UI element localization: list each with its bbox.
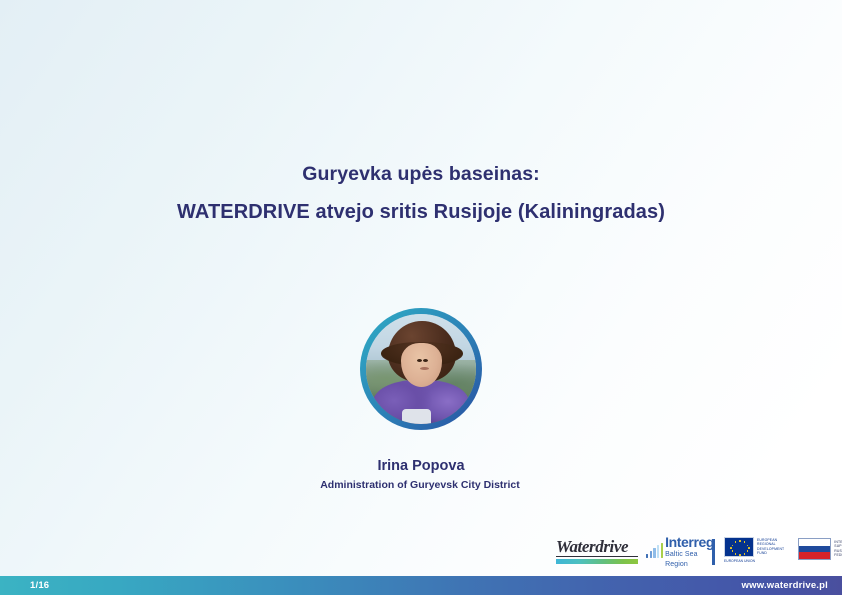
- speaker-name: Irina Popova: [0, 456, 842, 476]
- page-indicator: 1/16: [30, 580, 49, 591]
- eu-flag-wrap: EUROPEAN UNION: [724, 537, 754, 563]
- interreg-name: Interreg: [665, 535, 714, 549]
- eu-caption-line-4: FUND: [757, 551, 784, 555]
- waterdrive-gradient-bar: [556, 559, 638, 564]
- russia-logo: INTERNATIONAL SUPPORT OF THE RUSSIAN FED…: [798, 537, 842, 567]
- waterdrive-wordmark: Waterdrive: [556, 537, 638, 556]
- speaker-portrait-ring: [360, 308, 482, 430]
- interreg-logo: Interreg Baltic Sea Region: [646, 537, 712, 567]
- interreg-subtitle: Baltic Sea Region: [665, 550, 714, 570]
- portrait-mouth: [420, 367, 429, 370]
- logo-bar: Waterdrive Interreg Baltic Sea Region: [556, 533, 842, 567]
- portrait-eye-right: [423, 359, 428, 362]
- russia-caption-line-4: FEDERATION: [834, 553, 842, 557]
- waterdrive-logo: Waterdrive: [556, 537, 638, 567]
- interreg-divider: [712, 539, 715, 565]
- presentation-slide: Guryevka upės baseinas: WATERDRIVE atvej…: [0, 0, 842, 595]
- interreg-text: Interreg Baltic Sea Region: [665, 535, 714, 570]
- portrait-eye-left: [417, 359, 422, 362]
- website-url[interactable]: www.waterdrive.pl: [742, 580, 828, 591]
- slide-footer: 1/16 www.waterdrive.pl: [0, 576, 842, 595]
- speaker-portrait-photo: [366, 314, 476, 424]
- russia-flag-icon: [798, 538, 831, 560]
- eu-union-label: EUROPEAN UNION: [724, 559, 756, 563]
- title-block: Guryevka upės baseinas: WATERDRIVE atvej…: [0, 155, 842, 231]
- eu-caption: EUROPEAN REGIONAL DEVELOPMENT FUND: [757, 538, 784, 556]
- eu-flag-icon: [724, 537, 754, 557]
- speaker-block: Irina Popova Administration of Guryevsk …: [0, 456, 842, 494]
- title-line-2: WATERDRIVE atvejo sritis Rusijoje (Kalin…: [0, 193, 842, 231]
- title-line-1: Guryevka upės baseinas:: [0, 155, 842, 193]
- speaker-organization: Administration of Guryevsk City District: [0, 476, 842, 494]
- russia-caption: INTERNATIONAL SUPPORT OF THE RUSSIAN FED…: [834, 540, 842, 558]
- waterdrive-underline: [556, 556, 638, 557]
- interreg-bars-icon: [646, 543, 663, 558]
- portrait-collar: [402, 409, 431, 424]
- eu-logo: EUROPEAN UNION EUROPEAN REGIONAL DEVELOP…: [724, 537, 784, 567]
